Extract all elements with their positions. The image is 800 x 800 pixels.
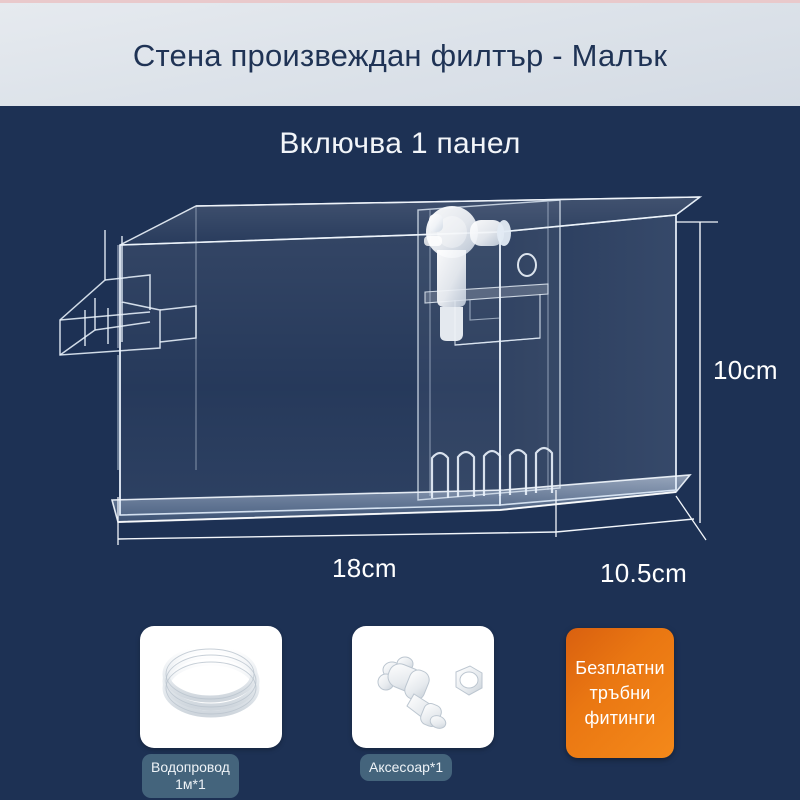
dimension-height-label: 10cm [713,355,778,386]
accessory-thumbnail-fitting[interactable] [352,626,494,748]
accessory-caption: Водопровод 1м*1 [142,754,239,798]
product-detail-page: Стена произвеждан филтър - Малък Включва… [0,0,800,800]
dimension-depth-label: 10.5cm [600,558,687,589]
page-title: Стена произвеждан филтър - Малък [133,34,667,75]
filter-box-body [120,197,700,515]
accessory-item[interactable]: Водопровод 1м*1 [140,626,282,798]
accessories-strip: Водопровод 1м*1 [0,618,800,800]
valve-fitting-icon [352,626,494,748]
free-fittings-badge[interactable]: Безплатни тръбни фитинги [566,628,674,758]
free-fittings-badge-label: Безплатни тръбни фитинги [575,656,665,731]
accessory-item[interactable]: Аксесоар*1 [352,626,494,781]
product-illustration [0,170,800,600]
hex-nut-icon [456,666,482,695]
accessory-caption: Аксесоар*1 [360,754,452,781]
subtitle-includes-panels: Включва 1 панел [0,125,800,163]
page-header: Стена произвеждан филтър - Малък [0,0,800,106]
water-tube-coil-icon [140,626,282,748]
dimension-width-label: 18cm [332,553,397,584]
accessory-thumbnail-tube[interactable] [140,626,282,748]
